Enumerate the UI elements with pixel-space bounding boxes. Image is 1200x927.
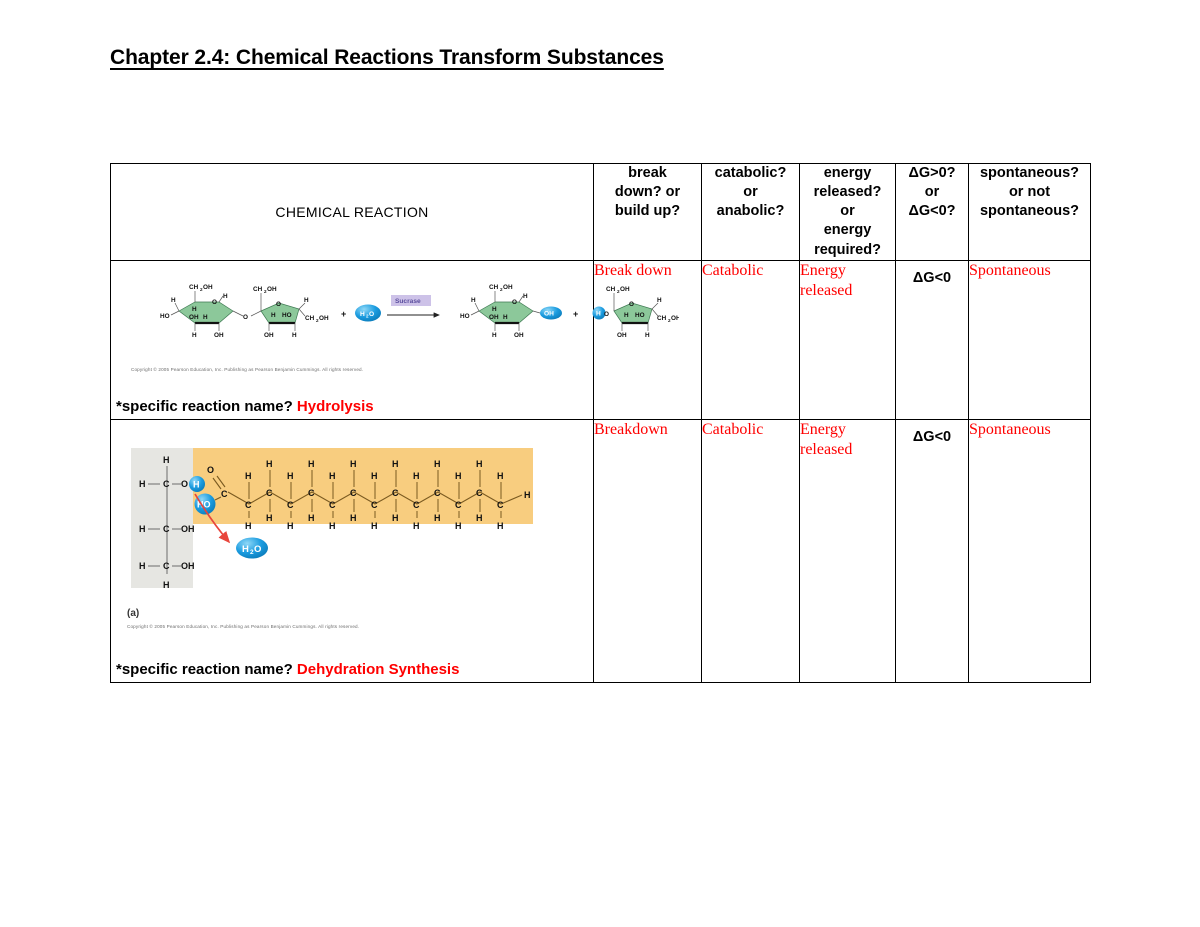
header-gibbs-line-2: or [896,183,968,202]
svg-text:H: H [292,332,297,339]
svg-text:H: H [350,459,357,469]
svg-text:C: C [455,500,462,510]
answer-gibbs-row-1[interactable]: ΔG<0 [896,260,969,419]
svg-text:H: H [492,306,497,313]
svg-text:H: H [392,513,399,523]
answer-metabolism-row-1[interactable]: Catabolic [702,260,800,419]
header-energy-line-1: energy [800,164,895,183]
svg-text:HO: HO [460,313,470,320]
svg-text:H: H [171,297,176,304]
water-label-2: H [242,544,249,555]
header-energy-line-4: energy [800,221,895,240]
svg-text:C: C [287,500,294,510]
header-chemical-reaction-label: CHEMICAL REACTION [275,204,428,220]
svg-text:H: H [350,513,357,523]
plus-sign-1: + [341,309,346,319]
svg-text:HO: HO [635,312,645,319]
svg-text:O: O [369,311,374,318]
svg-text:H: H [308,459,315,469]
svg-text:H: H [392,459,399,469]
svg-text:H: H [329,471,336,481]
header-gibbs: ΔG>0? or ΔG<0? [896,164,969,261]
svg-text:OH: OH [503,284,513,291]
svg-text:H: H [455,521,462,531]
svg-text:H: H [476,459,483,469]
glycerol-h-top: H [163,455,170,465]
svg-text:C: C [308,488,315,498]
svg-text:CH: CH [253,286,263,293]
header-energy: energy released? or energy required? [800,164,896,261]
svg-text:H: H [371,471,378,481]
glycerol-hydrogen-highlight-label: H [193,479,200,489]
table-row: H C H O H C [111,419,1091,682]
svg-text:C: C [350,488,357,498]
svg-text:H: H [503,314,508,321]
header-metabolism-line-2: or [702,183,799,202]
svg-text:OH: OH [189,314,199,321]
svg-text:H: H [329,521,336,531]
svg-text:H: H [287,471,294,481]
svg-text:H: H [624,312,629,319]
reaction-name-line-dehydration: *specific reaction name? Dehydration Syn… [116,661,459,678]
svg-text:O: O [276,301,281,308]
svg-text:CH: CH [606,286,616,293]
svg-text:C: C [497,500,504,510]
svg-text:C: C [413,500,420,510]
hydroxyl-highlight-label: OH [544,310,554,317]
svg-text:H: H [434,459,441,469]
header-direction-line-3: build up? [594,202,701,221]
hydrogen-highlight-label: H [596,310,601,317]
answer-energy-row-1[interactable]: Energy released [800,260,896,419]
svg-text:C: C [476,488,483,498]
header-direction-line-2: down? or [594,183,701,202]
sucrose-hydrolysis-figure: CH2OH O HO H H OH H [119,267,679,367]
svg-text:H: H [434,513,441,523]
header-spontaneity-line-3: spontaneous? [969,202,1090,221]
page-title: Chapter 2.4: Chemical Reactions Transfor… [110,46,664,70]
svg-text:OH: OH [267,286,277,293]
svg-text:H: H [413,521,420,531]
water-label-1: H [360,311,365,318]
svg-text:OH: OH [489,314,499,321]
dehydration-synthesis-figure: H C H O H C [121,442,681,632]
svg-text:H: H [645,332,650,339]
header-spontaneity: spontaneous? or not spontaneous? [969,164,1091,261]
svg-text:H: H [245,521,252,531]
svg-text:O: O [254,544,261,555]
chain-terminal-h: H [524,490,531,500]
header-energy-line-5: required? [800,241,895,260]
reaction-name-prompt: *specific reaction name? [116,398,293,415]
svg-text:HO: HO [160,313,170,320]
reaction-name-answer: Hydrolysis [297,398,374,415]
svg-text:O: O [512,299,517,306]
table-row: CH2OH O HO H H OH H [111,260,1091,419]
header-gibbs-line-3: ΔG<0? [896,202,968,221]
glycerol-c3: C [163,561,170,571]
answer-gibbs-row-2[interactable]: ΔG<0 [896,419,969,682]
header-direction-line-1: break [594,164,701,183]
svg-text:H: H [413,471,420,481]
svg-text:H: H [304,297,309,304]
svg-text:H: H [497,521,504,531]
header-energy-line-2: released? [800,183,895,202]
svg-text:H: H [492,332,497,339]
header-spontaneity-line-2: or not [969,183,1090,202]
svg-text:OH: OH [181,561,195,571]
svg-text:H: H [497,471,504,481]
svg-text:H: H [308,513,315,523]
svg-text:OH: OH [514,332,524,339]
svg-text:H: H [471,297,476,304]
svg-text:H: H [192,306,197,313]
answer-spontaneity-row-1[interactable]: Spontaneous [969,260,1091,419]
figure-copyright: Copyright © 2005 Pearson Education, Inc.… [127,624,359,629]
svg-text:HO: HO [282,312,292,319]
answer-spontaneity-row-2[interactable]: Spontaneous [969,419,1091,682]
svg-text:OH: OH [214,332,224,339]
svg-text:C: C [392,488,399,498]
svg-text:H: H [192,332,197,339]
header-spontaneity-line-1: spontaneous? [969,164,1090,183]
svg-text:OH: OH [203,284,213,291]
svg-text:H: H [139,524,146,534]
header-metabolism-line-1: catabolic? [702,164,799,183]
reaction-name-answer: Dehydration Synthesis [297,661,460,678]
svg-text:C: C [329,500,336,510]
header-gibbs-line-1: ΔG>0? [896,164,968,183]
svg-text:H: H [139,561,146,571]
glycerol-h-bottom: H [163,580,170,590]
svg-text:H: H [266,459,273,469]
svg-text:OH: OH [617,332,627,339]
panel-label: (a) [127,608,139,619]
svg-text:H: H [245,471,252,481]
plus-sign-2: + [573,309,578,319]
svg-text:H: H [287,521,294,531]
sucrose-hydrolysis-svg: CH2OH O HO H H OH H [119,267,679,367]
svg-text:H: H [523,293,528,300]
document-page: Chapter 2.4: Chemical Reactions Transfor… [0,0,1200,927]
svg-text:OH: OH [181,524,195,534]
reaction-figure-cell-dehydration: H C H O H C [111,419,594,682]
svg-text:H: H [266,513,273,523]
figure-copyright: Copyright © 2005 Pearson Education, Inc.… [131,367,363,372]
header-energy-line-3: or [800,202,895,221]
svg-text:C: C [245,500,252,510]
header-chemical-reaction: CHEMICAL REACTION [111,164,594,261]
svg-text:OH: OH [319,315,329,322]
svg-text:H: H [271,312,276,319]
svg-text:OH: OH [264,332,274,339]
svg-text:O: O [212,299,217,306]
svg-text:H: H [476,513,483,523]
glycerol-c2: C [163,524,170,534]
svg-text:H: H [139,479,146,489]
svg-text:H: H [223,293,228,300]
svg-text:H: H [203,314,208,321]
fatty-acid-carbonyl-o: O [207,465,214,475]
svg-text:C: C [434,488,441,498]
svg-text:CH: CH [189,284,199,291]
svg-text:C: C [371,500,378,510]
enzyme-label: Sucrase [395,298,421,305]
svg-text:O: O [629,301,634,308]
svg-text:O: O [181,479,188,489]
svg-text:OH: OH [671,315,679,322]
table-header-row: CHEMICAL REACTION break down? or build u… [111,164,1091,261]
reaction-name-prompt: *specific reaction name? [116,661,293,678]
header-direction: break down? or build up? [594,164,702,261]
answer-energy-row-2[interactable]: Energy released [800,419,896,682]
chemical-reaction-table: CHEMICAL REACTION break down? or build u… [110,163,1091,683]
svg-text:CH: CH [657,315,667,322]
svg-text:O: O [243,314,248,321]
svg-text:CH: CH [489,284,499,291]
header-metabolism: catabolic? or anabolic? [702,164,800,261]
header-metabolism-line-3: anabolic? [702,202,799,221]
glycerol-c1: C [163,479,170,489]
reaction-name-line-hydrolysis: *specific reaction name? Hydrolysis [116,398,374,415]
svg-text:CH: CH [305,315,315,322]
svg-text:OH: OH [620,286,630,293]
fatty-acid-carboxyl-c: C [221,489,228,499]
svg-text:H: H [371,521,378,531]
reaction-figure-cell-hydrolysis: CH2OH O HO H H OH H [111,260,594,419]
svg-text:H: H [657,297,662,304]
svg-text:O: O [604,311,609,318]
svg-text:H: H [455,471,462,481]
dehydration-synthesis-svg: H C H O H C [121,442,681,622]
answer-metabolism-row-2[interactable]: Catabolic [702,419,800,682]
svg-text:C: C [266,488,273,498]
